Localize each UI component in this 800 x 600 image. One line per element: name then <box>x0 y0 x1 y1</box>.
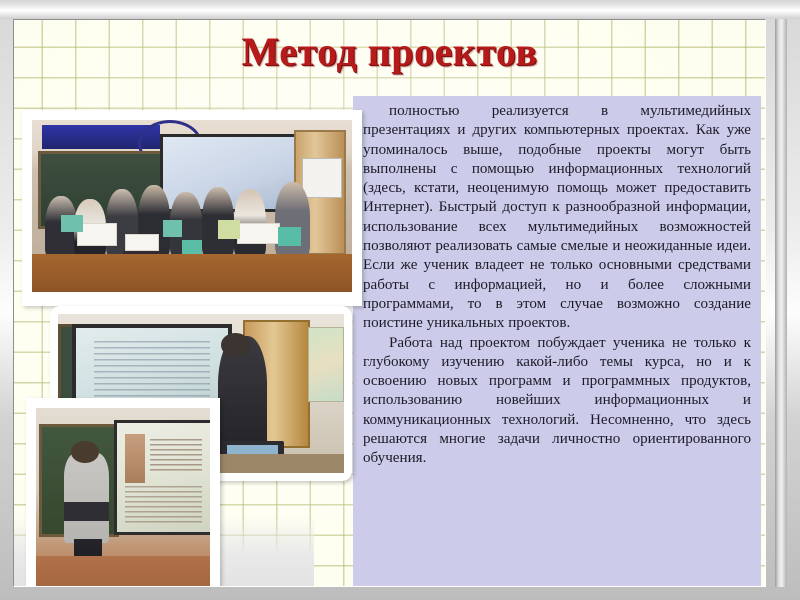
held-sheet <box>237 223 281 244</box>
slide-heading-lines <box>150 439 202 472</box>
held-colored-card <box>278 227 300 246</box>
photo-class-group <box>22 110 362 306</box>
wall-poster <box>302 158 342 198</box>
held-sheet <box>125 234 159 251</box>
frame-top-bevel <box>0 0 800 19</box>
frame-right-bevel <box>775 19 787 587</box>
held-colored-card <box>163 220 182 237</box>
classroom-desk <box>32 254 352 292</box>
photo-student-image <box>36 408 210 587</box>
photo-student-with-book <box>26 398 220 587</box>
student-figure <box>275 182 310 258</box>
held-colored-card <box>218 220 240 239</box>
held-colored-card <box>61 215 83 232</box>
student-head <box>71 441 99 464</box>
student-figure <box>64 453 109 543</box>
held-book <box>64 502 109 520</box>
projection-screen <box>114 420 210 535</box>
floor <box>36 556 210 587</box>
presenter-head <box>221 333 250 357</box>
slide-canvas: Метод проектов полностью реализуется в м… <box>13 19 766 587</box>
slide-content-lines <box>94 341 209 402</box>
slide-title: Метод проектов <box>14 28 765 75</box>
slide-illustration <box>125 434 145 483</box>
slide-body-lines <box>125 486 202 523</box>
wall-map <box>308 327 344 402</box>
photo-class-group-image <box>32 120 352 292</box>
slide-frame: Метод проектов полностью реализуется в м… <box>0 0 800 600</box>
body-text-panel: полностью реализуется в мультимедийных п… <box>353 96 761 586</box>
body-paragraph-1: полностью реализуется в мультимедийных п… <box>363 102 751 334</box>
body-paragraph-2: Работа над проектом побуждает ученика не… <box>363 334 751 469</box>
